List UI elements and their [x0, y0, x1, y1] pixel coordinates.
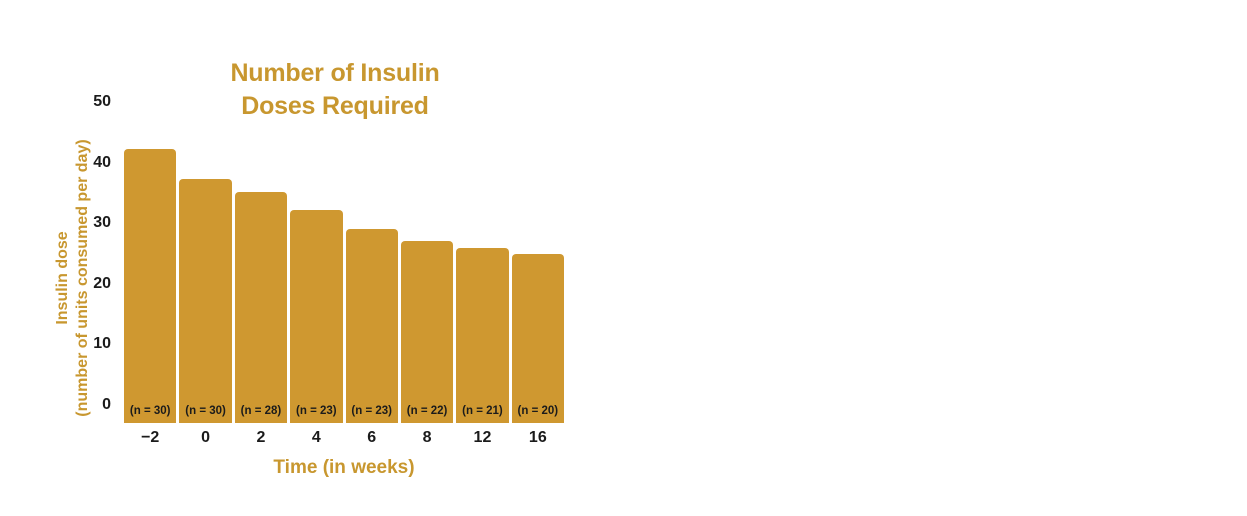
bar[interactable]: (n = 21): [456, 248, 508, 423]
y-axis-tick-label: 50: [93, 93, 124, 111]
x-axis-tick-label: 8: [423, 429, 432, 447]
figure: Number of Insulin Doses Required Insulin…: [0, 0, 1247, 516]
x-axis-tick-label: 16: [529, 429, 547, 447]
bar-group: (n = 28)2: [235, 120, 287, 423]
bar-count-label: (n = 20): [518, 405, 559, 417]
y-axis-tick-label: 30: [93, 214, 124, 232]
bar-group: (n = 22)8: [401, 120, 453, 423]
bar[interactable]: (n = 22): [401, 241, 453, 423]
bar[interactable]: (n = 30): [124, 149, 176, 423]
bar-count-label: (n = 23): [296, 405, 337, 417]
bar[interactable]: (n = 28): [235, 192, 287, 423]
bar-count-label: (n = 28): [241, 405, 282, 417]
bar-group: (n = 23)4: [290, 120, 342, 423]
y-axis-tick-label: 10: [93, 335, 124, 353]
chart-panel-insulin-doses: Number of Insulin Doses Required Insulin…: [0, 0, 624, 516]
x-axis-title: Time (in weeks): [124, 457, 564, 479]
x-axis-tick-label: 6: [367, 429, 376, 447]
y-axis-title: Insulin dose (number of units consumed p…: [53, 113, 93, 443]
bar-series: (n = 30)−2(n = 30)0(n = 28)2(n = 23)4(n …: [124, 120, 564, 423]
x-axis-tick-label: 2: [256, 429, 265, 447]
bar-count-label: (n = 22): [407, 405, 448, 417]
x-axis-tick-label: −2: [141, 429, 159, 447]
bar-count-label: (n = 30): [130, 405, 171, 417]
x-axis-tick-label: 0: [201, 429, 210, 447]
bar[interactable]: (n = 20): [512, 254, 564, 423]
y-axis-tick-label: 40: [93, 154, 124, 172]
bar-group: (n = 30)0: [179, 120, 231, 423]
bar-group: (n = 21)12: [456, 120, 508, 423]
bar-group: (n = 30)−2: [124, 120, 176, 423]
bar[interactable]: (n = 23): [346, 229, 398, 423]
bar[interactable]: (n = 30): [179, 179, 231, 423]
y-axis-tick-label: 0: [102, 396, 124, 414]
bar[interactable]: (n = 23): [290, 210, 342, 423]
x-axis-tick-label: 12: [474, 429, 492, 447]
bar-count-label: (n = 30): [185, 405, 226, 417]
bar-count-label: (n = 23): [351, 405, 392, 417]
bar-count-label: (n = 21): [462, 405, 503, 417]
chart-title: Number of Insulin Doses Required: [150, 57, 520, 123]
x-axis-tick-label: 4: [312, 429, 321, 447]
bar-group: (n = 23)6: [346, 120, 398, 423]
bar-group: (n = 20)16: [512, 120, 564, 423]
chart-panel-hypoglycemic-events: Hypoglycemic Events Hypoglycemic Events …: [624, 0, 1247, 516]
plot-area: 01020304050 (n = 30)−2(n = 30)0(n = 28)2…: [124, 120, 564, 423]
y-axis-tick-label: 20: [93, 275, 124, 293]
